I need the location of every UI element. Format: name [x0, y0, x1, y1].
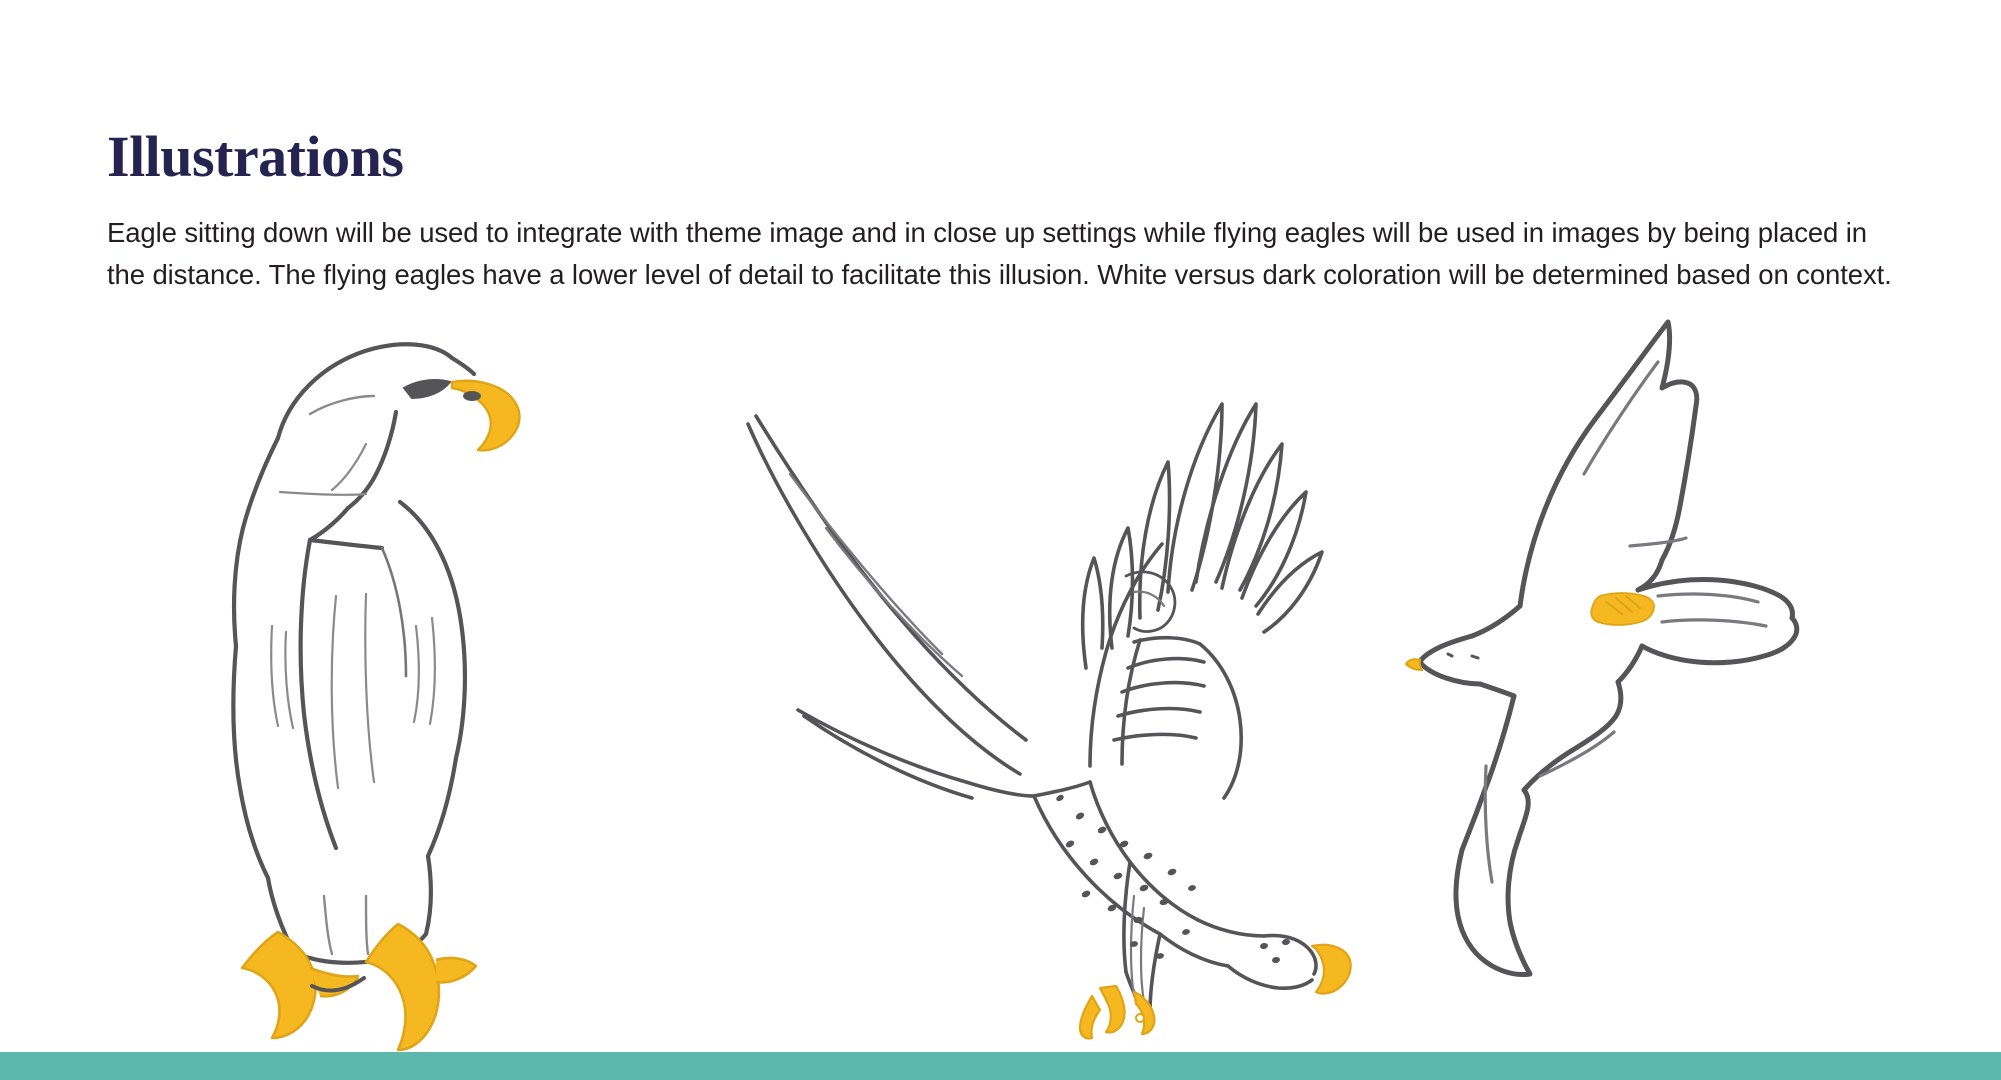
eagle-eye-marking	[404, 380, 450, 398]
slide-canvas: Illustrations Eagle sitting down will be…	[0, 0, 2001, 1080]
eagle-beak	[1312, 945, 1351, 994]
eagle-beak	[452, 381, 520, 451]
flying-eagle-detailed-illustration	[730, 296, 1350, 1036]
eagle-left-talon	[242, 932, 358, 1038]
illustration-row	[0, 296, 2001, 1036]
eagle-right-talon	[366, 924, 476, 1050]
wing-marking	[1591, 593, 1654, 625]
eagle-beak	[1406, 659, 1422, 670]
body-paragraph: Eagle sitting down will be used to integ…	[107, 212, 1907, 296]
soaring-eagle-simple-illustration	[1400, 296, 1820, 996]
page-title: Illustrations	[107, 127, 403, 188]
sitting-eagle-illustration	[160, 296, 580, 996]
footer-accent-bar	[0, 1052, 2001, 1080]
